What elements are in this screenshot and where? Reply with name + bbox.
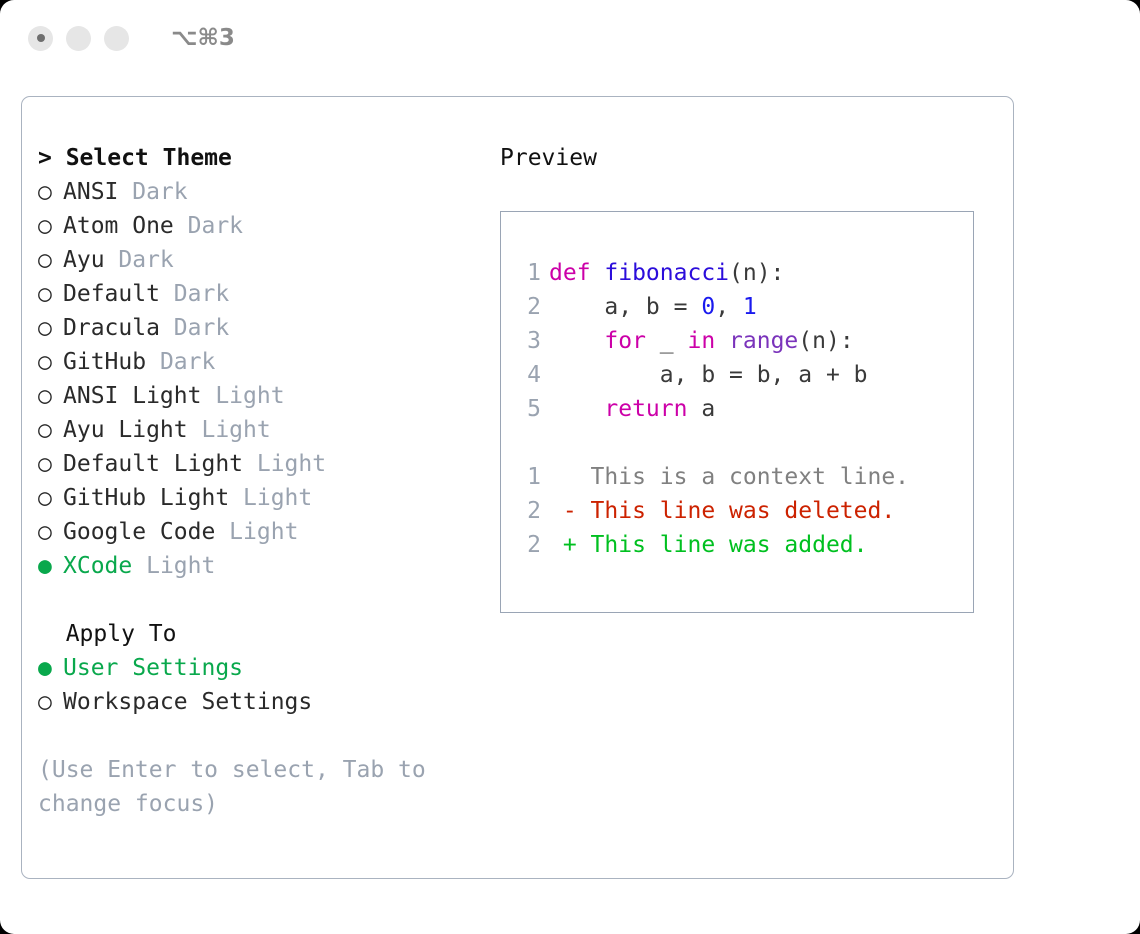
apply-to-header: Apply To: [38, 617, 478, 651]
theme-option-label: GitHub Light: [63, 485, 229, 511]
radio-unselected-icon: ○: [38, 243, 63, 277]
theme-option-default-light[interactable]: ○Default Light Light: [38, 447, 478, 481]
diff-line-ctx: 1 This is a context line.: [515, 460, 973, 494]
theme-option-label: XCode: [63, 553, 132, 579]
theme-option-label: Atom One: [63, 213, 174, 239]
code-diff-spacer: [515, 426, 973, 460]
code-line: 4 a, b = b, a + b: [515, 358, 973, 392]
diff-line-text: + This line was added.: [549, 532, 868, 558]
radio-unselected-icon: ○: [38, 515, 63, 549]
code-line: 3 for _ in range(n):: [515, 324, 973, 358]
radio-unselected-icon: ○: [38, 175, 63, 209]
code-line: 1def fibonacci(n):: [515, 256, 973, 290]
radio-unselected-icon: ○: [38, 413, 63, 447]
radio-selected-icon: ●: [38, 549, 63, 583]
apply-to-option-label: User Settings: [63, 655, 243, 681]
theme-option-label: Default: [63, 281, 160, 307]
theme-option-ayu-light[interactable]: ○Ayu Light Light: [38, 413, 478, 447]
code-token-pl: a, b =: [549, 294, 701, 320]
radio-unselected-icon: ○: [38, 685, 63, 719]
theme-kind-badge: Dark: [105, 247, 174, 273]
active-dot-icon: [37, 34, 45, 42]
code-token-kw: return: [604, 396, 687, 422]
diff-line-number: 1: [515, 460, 541, 494]
code-token-num: 0: [701, 294, 715, 320]
code-line: 5 return a: [515, 392, 973, 426]
code-line-number: 5: [515, 392, 541, 426]
code-line-number: 2: [515, 290, 541, 324]
hint-spacer: [38, 719, 478, 753]
window-controls: [28, 26, 129, 51]
theme-option-label: Dracula: [63, 315, 160, 341]
code-token-pl: [549, 328, 604, 354]
theme-list-column: > Select Theme ○ANSI Dark○Atom One Dark○…: [38, 141, 478, 821]
theme-option-label: Google Code: [63, 519, 215, 545]
theme-option-google-code[interactable]: ○Google Code Light: [38, 515, 478, 549]
code-token-pl: ,: [715, 294, 743, 320]
diff-line-number: 2: [515, 494, 541, 528]
code-token-pl: a: [687, 396, 715, 422]
radio-unselected-icon: ○: [38, 345, 63, 379]
preview-title: Preview: [500, 141, 1000, 175]
code-token-num: 1: [743, 294, 757, 320]
theme-option-label: Ayu: [63, 247, 105, 273]
diff-line-text: This is a context line.: [549, 464, 909, 490]
diff-line-text: - This line was deleted.: [549, 498, 895, 524]
app-window: ⌥⌘3 > Select Theme ○ANSI Dark○Atom One D…: [0, 0, 1140, 934]
theme-option-label: ANSI: [63, 179, 118, 205]
code-token-pl: _: [646, 328, 688, 354]
code-token-pl: [549, 396, 604, 422]
theme-kind-badge: Dark: [146, 349, 215, 375]
theme-kind-badge: Light: [132, 553, 215, 579]
apply-to-option-workspace-settings[interactable]: ○Workspace Settings: [38, 685, 478, 719]
radio-unselected-icon: ○: [38, 481, 63, 515]
theme-option-ansi-light[interactable]: ○ANSI Light Light: [38, 379, 478, 413]
theme-option-xcode[interactable]: ●XCode Light: [38, 549, 478, 583]
code-line: 2 a, b = 0, 1: [515, 290, 973, 324]
radio-selected-icon: ●: [38, 651, 63, 685]
theme-option-label: Ayu Light: [63, 417, 188, 443]
radio-unselected-icon: ○: [38, 209, 63, 243]
keyboard-hint: (Use Enter to select, Tab to change focu…: [38, 753, 448, 821]
theme-option-default[interactable]: ○Default Dark: [38, 277, 478, 311]
code-sample: 1def fibonacci(n):2 a, b = 0, 13 for _ i…: [515, 256, 973, 426]
preview-box: 1def fibonacci(n):2 a, b = 0, 13 for _ i…: [500, 211, 974, 613]
theme-kind-badge: Light: [188, 417, 271, 443]
theme-kind-badge: Dark: [174, 213, 243, 239]
radio-unselected-icon: ○: [38, 379, 63, 413]
radio-unselected-icon: ○: [38, 311, 63, 345]
theme-option-label: GitHub: [63, 349, 146, 375]
theme-kind-badge: Light: [201, 383, 284, 409]
code-token-kw: for: [604, 328, 646, 354]
theme-option-atom-one[interactable]: ○Atom One Dark: [38, 209, 478, 243]
preview-column: Preview 1def fibonacci(n):2 a, b = 0, 13…: [500, 141, 1000, 613]
code-token-kw: def: [549, 260, 604, 286]
theme-option-github[interactable]: ○GitHub Dark: [38, 345, 478, 379]
theme-kind-badge: Dark: [160, 281, 229, 307]
diff-sample: 1 This is a context line.2 - This line w…: [515, 460, 973, 562]
code-line-number: 3: [515, 324, 541, 358]
code-token-fn: fibonacci: [604, 260, 729, 286]
code-token-kw: in: [687, 328, 715, 354]
diff-line-add: 2 + This line was added.: [515, 528, 973, 562]
code-token-pl: (n):: [798, 328, 853, 354]
list-spacer: [38, 583, 478, 617]
apply-to-option-list: ●User Settings○Workspace Settings: [38, 651, 478, 719]
theme-kind-badge: Light: [229, 485, 312, 511]
code-line-number: 4: [515, 358, 541, 392]
theme-option-ansi[interactable]: ○ANSI Dark: [38, 175, 478, 209]
apply-to-option-user-settings[interactable]: ●User Settings: [38, 651, 478, 685]
code-line-number: 1: [515, 256, 541, 290]
diff-line-del: 2 - This line was deleted.: [515, 494, 973, 528]
theme-option-dracula[interactable]: ○Dracula Dark: [38, 311, 478, 345]
theme-option-list: ○ANSI Dark○Atom One Dark○Ayu Dark○Defaul…: [38, 175, 478, 583]
theme-kind-badge: Dark: [160, 315, 229, 341]
keyboard-shortcut-label: ⌥⌘3: [171, 25, 235, 51]
radio-unselected-icon: ○: [38, 447, 63, 481]
window-dot-second[interactable]: [66, 26, 91, 51]
select-theme-header: > Select Theme: [38, 141, 478, 175]
theme-option-label: ANSI Light: [63, 383, 201, 409]
window-dot-active[interactable]: [28, 26, 53, 51]
theme-kind-badge: Light: [243, 451, 326, 477]
code-token-pl: (n):: [729, 260, 784, 286]
theme-kind-badge: Dark: [118, 179, 187, 205]
apply-to-option-label: Workspace Settings: [63, 689, 312, 715]
code-token-pl: a, b = b, a + b: [549, 362, 868, 388]
radio-unselected-icon: ○: [38, 277, 63, 311]
theme-option-label: Default Light: [63, 451, 243, 477]
title-bar: ⌥⌘3: [0, 0, 1140, 76]
diff-line-number: 2: [515, 528, 541, 562]
window-dot-third[interactable]: [104, 26, 129, 51]
theme-picker-panel: > Select Theme ○ANSI Dark○Atom One Dark○…: [21, 96, 1014, 879]
code-token-bi: range: [729, 328, 798, 354]
code-token-pl: [715, 328, 729, 354]
theme-option-ayu[interactable]: ○Ayu Dark: [38, 243, 478, 277]
theme-option-github-light[interactable]: ○GitHub Light Light: [38, 481, 478, 515]
theme-kind-badge: Light: [215, 519, 298, 545]
